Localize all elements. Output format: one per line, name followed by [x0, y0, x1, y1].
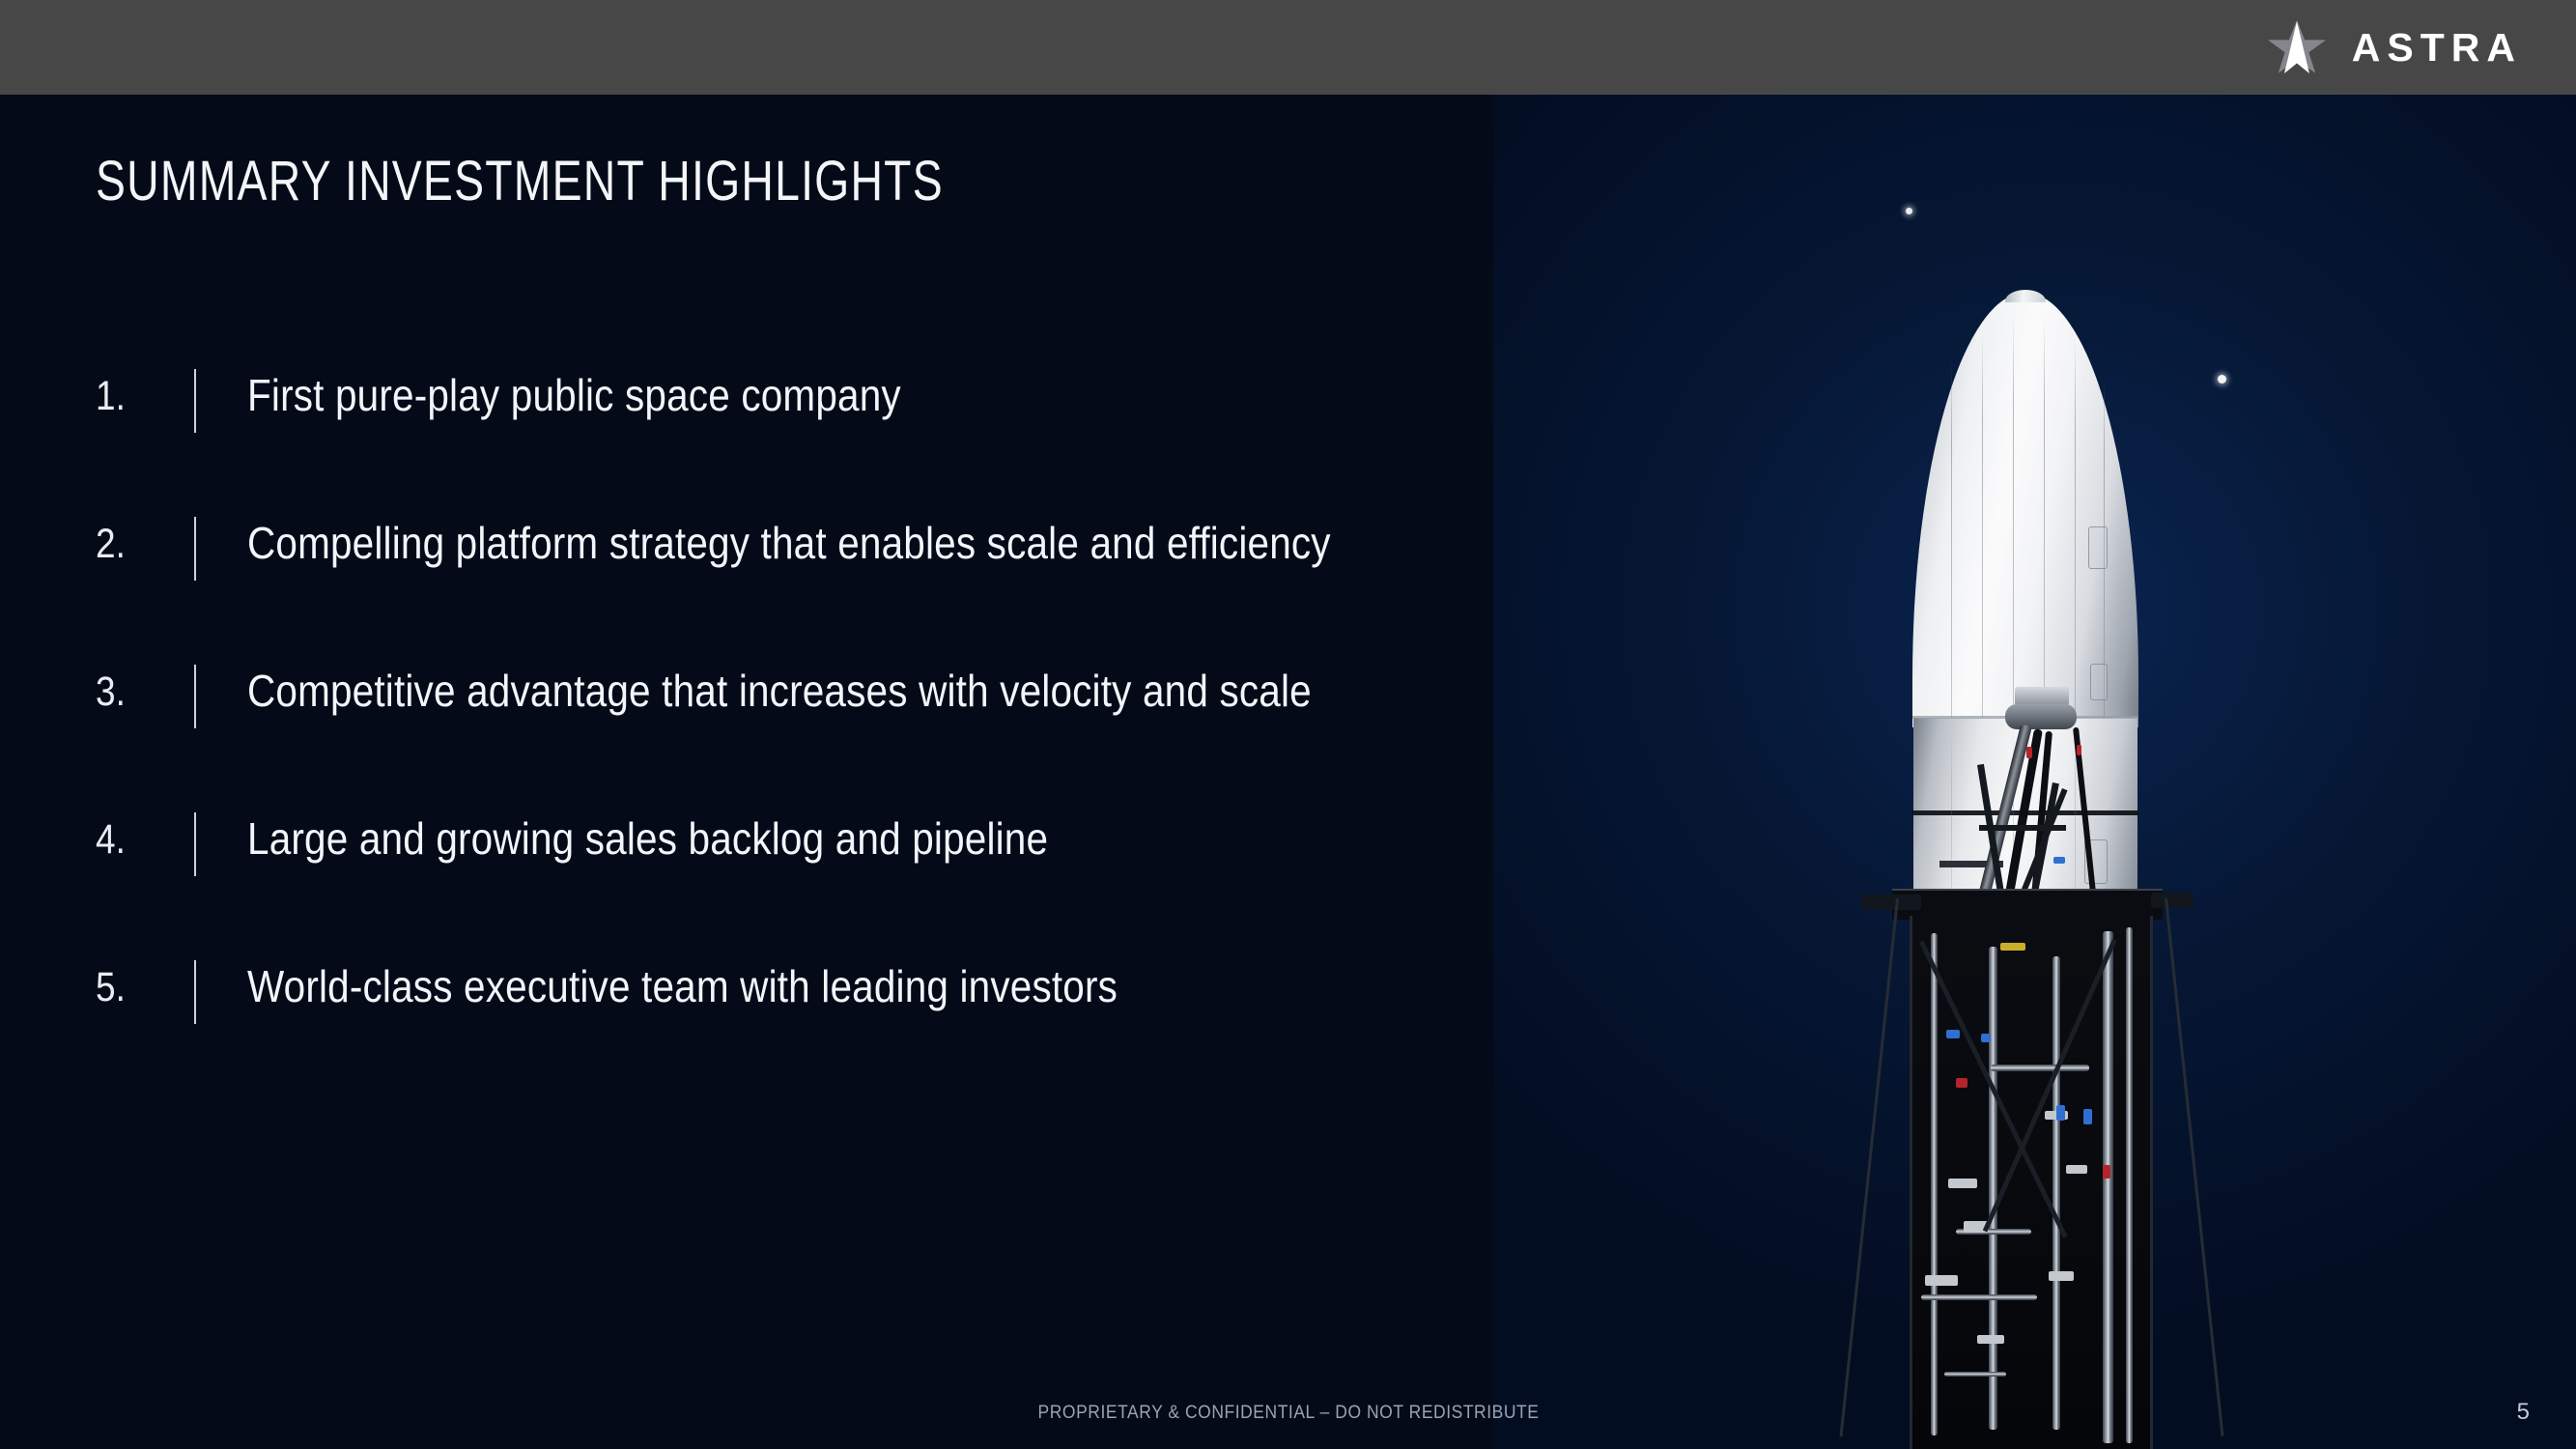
confidentiality-notice: PROPRIETARY & CONFIDENTIAL – DO NOT REDI…: [1037, 1403, 1539, 1424]
list-item-divider: [194, 517, 196, 581]
astra-star-icon: [2267, 18, 2327, 76]
list-item-label: World-class executive team with leading …: [247, 960, 1118, 1012]
list-item-number: 5.: [96, 964, 160, 1011]
list-item: 3. Competitive advantage that increases …: [0, 668, 1493, 816]
outrigger-right: [2151, 893, 2194, 908]
list-item-divider: [194, 369, 196, 433]
slide-content-panel: SUMMARY INVESTMENT HIGHLIGHTS 1. First p…: [0, 95, 1493, 1449]
rocket-photo: [1493, 95, 2576, 1449]
list-item-label: Competitive advantage that increases wit…: [247, 665, 1312, 717]
list-item-number: 1.: [96, 373, 160, 420]
valve-fitting: [2066, 1165, 2087, 1174]
standpipe: [2103, 931, 2113, 1443]
indicator-light: [2056, 1105, 2065, 1121]
indicator-light: [2053, 857, 2065, 864]
crossover-pipe: [1991, 1065, 2089, 1071]
list-item: 4. Large and growing sales backlog and p…: [0, 816, 1493, 964]
indicator-light: [2103, 1165, 2110, 1179]
list-item: 5. World-class executive team with leadi…: [0, 964, 1493, 1112]
star-icon: [1906, 208, 1912, 214]
astra-logo: ASTRA: [2267, 0, 2522, 95]
standpipe: [1989, 947, 1997, 1430]
standpipe: [1931, 933, 1938, 1435]
list-item-divider: [194, 812, 196, 876]
list-item-divider: [194, 960, 196, 1024]
page-number: 5: [2517, 1399, 2530, 1426]
standpipe: [2052, 956, 2060, 1430]
list-item: 2. Compelling platform strategy that ena…: [0, 521, 1493, 668]
indicator-light: [1946, 1030, 1960, 1038]
valve-fitting: [1977, 1335, 2004, 1344]
launch-support-structure: [1863, 889, 2190, 1449]
list-item-number: 3.: [96, 668, 160, 716]
indicator-light: [2077, 745, 2081, 755]
page-title: SUMMARY INVESTMENT HIGHLIGHTS: [96, 149, 944, 213]
access-hatch: [2088, 526, 2108, 569]
standpipe: [2126, 927, 2133, 1443]
crossover-pipe: [1944, 1372, 2006, 1377]
list-item-divider: [194, 665, 196, 728]
valve-fitting: [1925, 1275, 1958, 1286]
list-item-label: Large and growing sales backlog and pipe…: [247, 812, 1048, 865]
indicator-light: [1981, 1034, 1991, 1042]
list-item-label: First pure-play public space company: [247, 369, 901, 421]
astra-wordmark: ASTRA: [2352, 28, 2522, 68]
investment-highlights-list: 1. First pure-play public space company …: [0, 373, 1493, 1112]
outrigger-left: [1861, 895, 1921, 910]
indicator-light: [2026, 747, 2032, 758]
indicator-light: [2083, 1109, 2092, 1124]
list-item-number: 4.: [96, 816, 160, 864]
umbilical-plate: [2015, 687, 2069, 706]
rocket-vehicle: [1912, 293, 2138, 969]
list-item: 1. First pure-play public space company: [0, 373, 1493, 521]
star-icon: [2218, 375, 2226, 384]
top-header-bar: ASTRA: [0, 0, 2576, 95]
indicator-light: [2000, 943, 2025, 951]
indicator-light: [1956, 1078, 1967, 1088]
list-item-number: 2.: [96, 521, 160, 568]
presentation-slide: SUMMARY INVESTMENT HIGHLIGHTS 1. First p…: [0, 0, 2576, 1449]
list-item-label: Compelling platform strategy that enable…: [247, 517, 1331, 569]
umbilical-collar: [2005, 704, 2077, 729]
valve-fitting: [2049, 1271, 2074, 1281]
valve-fitting: [1948, 1179, 1977, 1188]
access-hatch: [2090, 664, 2108, 700]
crossover-pipe: [1921, 1294, 2037, 1300]
